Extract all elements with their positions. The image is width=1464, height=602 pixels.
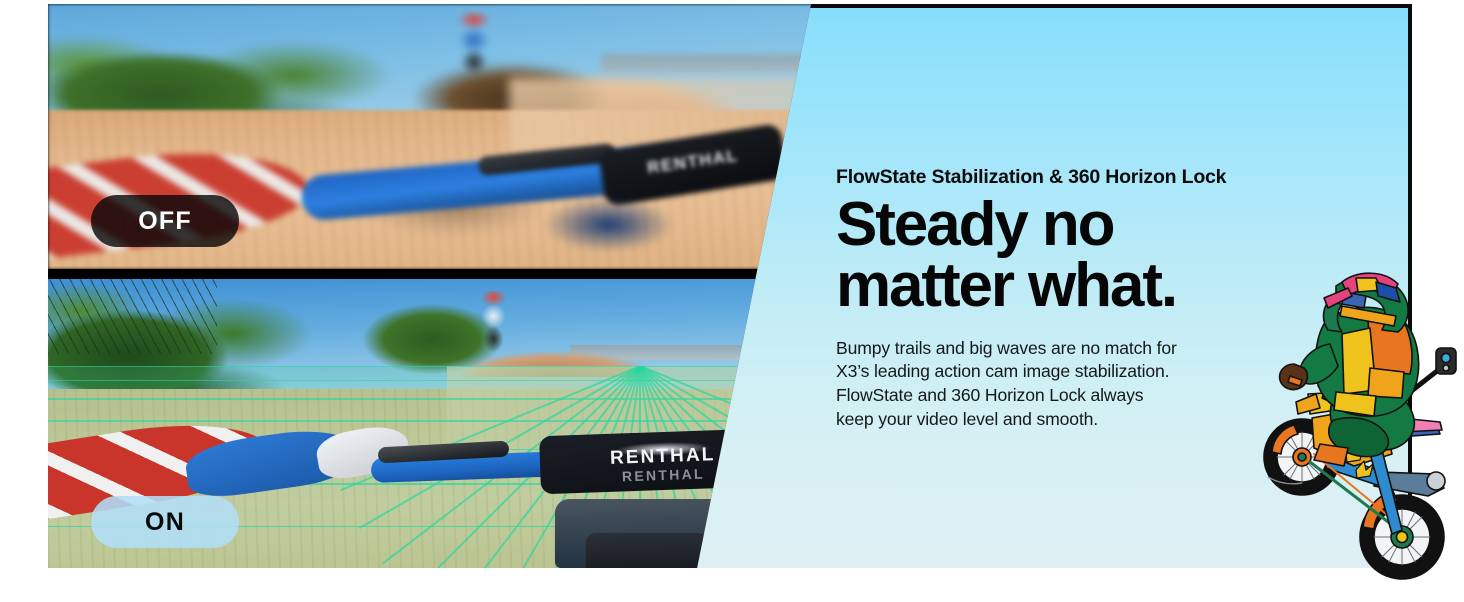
off-rider-ahead [447,12,501,76]
body-line-1: Bumpy trails and big waves are no match … [836,337,1336,361]
body-line-3: FlowState and 360 Horizon Lock always [836,384,1336,408]
panel-copy-block: FlowState Stabilization & 360 Horizon Lo… [836,166,1336,432]
video-frame-off: RENTHAL OFF [48,4,816,269]
body-line-2: X3’s leading action cam image stabilizat… [836,360,1336,384]
status-badge-on: ON [91,496,239,548]
horizon-grid-line-h [48,420,816,422]
stabilization-comparison: RENTHAL OFF [48,4,816,568]
video-frame-on: RENTHAL RENTHAL ON [48,279,816,568]
on-branches [48,279,217,354]
promo-banner: FlowState Stabilization & 360 Horizon Lo… [0,0,1464,600]
on-rider-ahead [474,291,512,355]
body-line-4: keep your video level and smooth. [836,408,1336,432]
horizon-grid-line-h [48,380,816,382]
body-copy: Bumpy trails and big waves are no match … [836,337,1336,432]
headline-line-1: Steady no [836,195,1336,256]
status-badge-off: OFF [91,195,239,247]
horizon-grid-line-h [48,366,816,368]
eyebrow-text: FlowState Stabilization & 360 Horizon Lo… [836,166,1336,189]
headline-line-2: matter what. [836,256,1336,317]
page-title: Steady no matter what. [836,195,1336,317]
on-front-wheel [586,533,709,568]
off-front-fork [509,195,709,269]
on-bar-pad-brand-shadow: RENTHAL [621,465,705,487]
